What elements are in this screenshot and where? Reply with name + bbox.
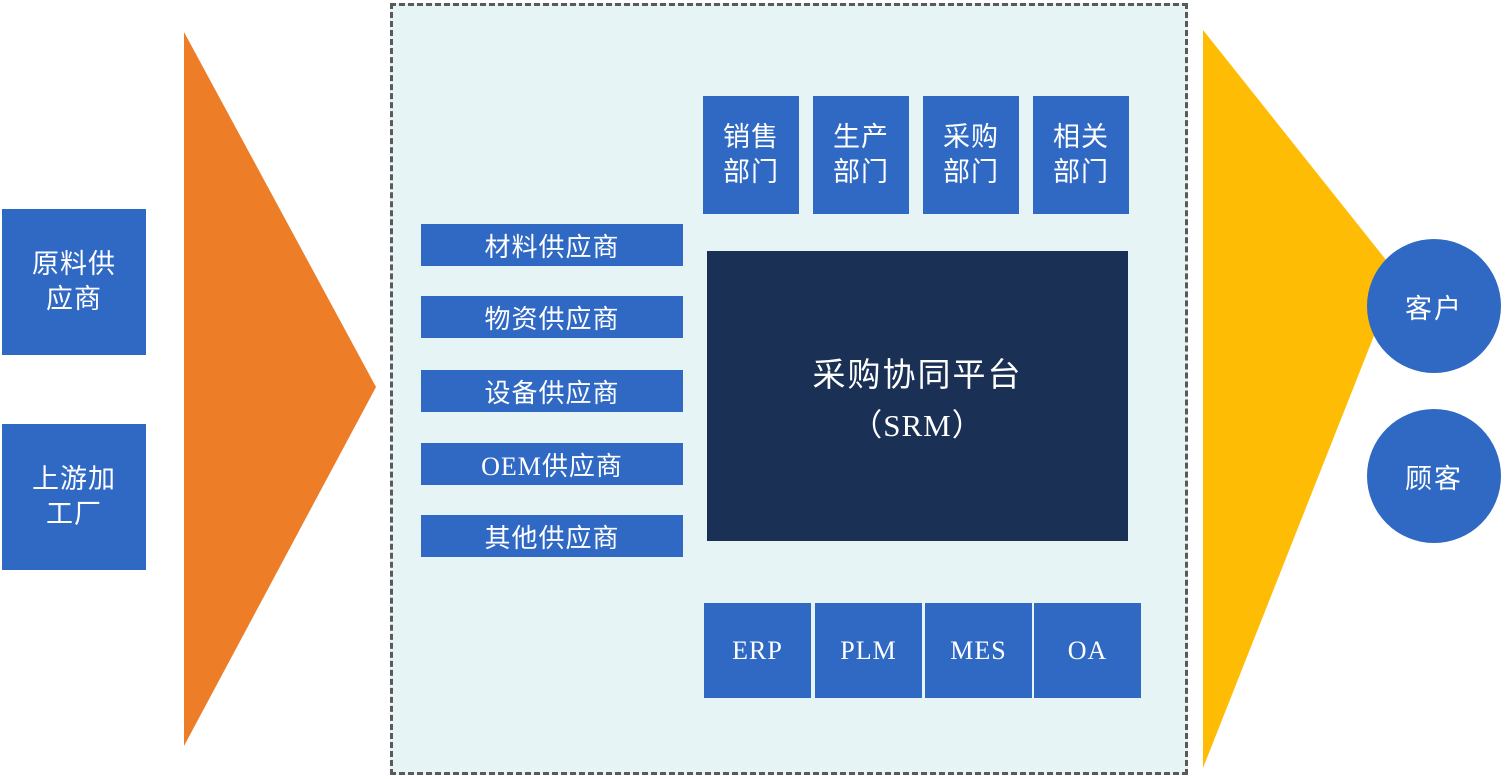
system-box-plm[interactable]: PLM (815, 603, 922, 698)
department-box-related[interactable]: 相关 部门 (1033, 96, 1129, 214)
supplier-bar-label: 设备供应商 (484, 373, 619, 410)
outbound-flow-arrow (1198, 24, 1403, 774)
department-box-label: 采购 部门 (943, 120, 999, 189)
department-box-production[interactable]: 生产 部门 (813, 96, 909, 214)
system-box-label: PLM (840, 636, 896, 666)
department-box-label: 生产 部门 (833, 120, 889, 189)
input-box-label: 上游加 工厂 (32, 462, 116, 532)
system-box-label: MES (950, 636, 1006, 666)
supplier-bar-label: OEM供应商 (481, 446, 623, 483)
department-box-sales[interactable]: 销售 部门 (703, 96, 799, 214)
srm-platform-subtitle: （SRM） (851, 400, 983, 445)
input-box-raw-material-supplier[interactable]: 原料供 应商 (2, 209, 146, 355)
inbound-flow-arrow (180, 26, 380, 752)
diagram-canvas: 原料供 应商 上游加 工厂 材料供应商 物资供应商 设备供应商 OEM供应商 其… (0, 0, 1506, 779)
supplier-bar-material[interactable]: 材料供应商 (421, 224, 683, 266)
system-box-erp[interactable]: ERP (704, 603, 811, 698)
platform-boundary-panel: 材料供应商 物资供应商 设备供应商 OEM供应商 其他供应商 销售 部门 生产 … (390, 3, 1188, 775)
system-box-label: ERP (732, 636, 783, 666)
input-box-upstream-factory[interactable]: 上游加 工厂 (2, 424, 146, 570)
supplier-bar-label: 物资供应商 (484, 299, 619, 336)
supplier-bar-other[interactable]: 其他供应商 (421, 515, 683, 557)
system-box-label: OA (1068, 636, 1108, 666)
supplier-bar-goods[interactable]: 物资供应商 (421, 296, 683, 338)
srm-platform-title: 采购协同平台 (813, 348, 1023, 396)
output-circle-customer[interactable]: 客户 (1367, 239, 1501, 373)
input-box-label: 原料供 应商 (32, 247, 116, 317)
supplier-bar-label: 其他供应商 (484, 518, 619, 555)
supplier-bar-equipment[interactable]: 设备供应商 (421, 370, 683, 412)
system-box-oa[interactable]: OA (1034, 603, 1141, 698)
department-box-procurement[interactable]: 采购 部门 (923, 96, 1019, 214)
srm-platform-core[interactable]: 采购协同平台 （SRM） (707, 251, 1128, 541)
supplier-bar-oem[interactable]: OEM供应商 (421, 443, 683, 485)
system-box-mes[interactable]: MES (925, 603, 1032, 698)
supplier-bar-label: 材料供应商 (484, 227, 619, 264)
output-circle-label: 顾客 (1405, 457, 1463, 496)
department-box-label: 销售 部门 (723, 120, 779, 189)
output-circle-label: 客户 (1405, 287, 1463, 326)
output-circle-consumer[interactable]: 顾客 (1367, 409, 1501, 543)
department-box-label: 相关 部门 (1053, 120, 1109, 189)
